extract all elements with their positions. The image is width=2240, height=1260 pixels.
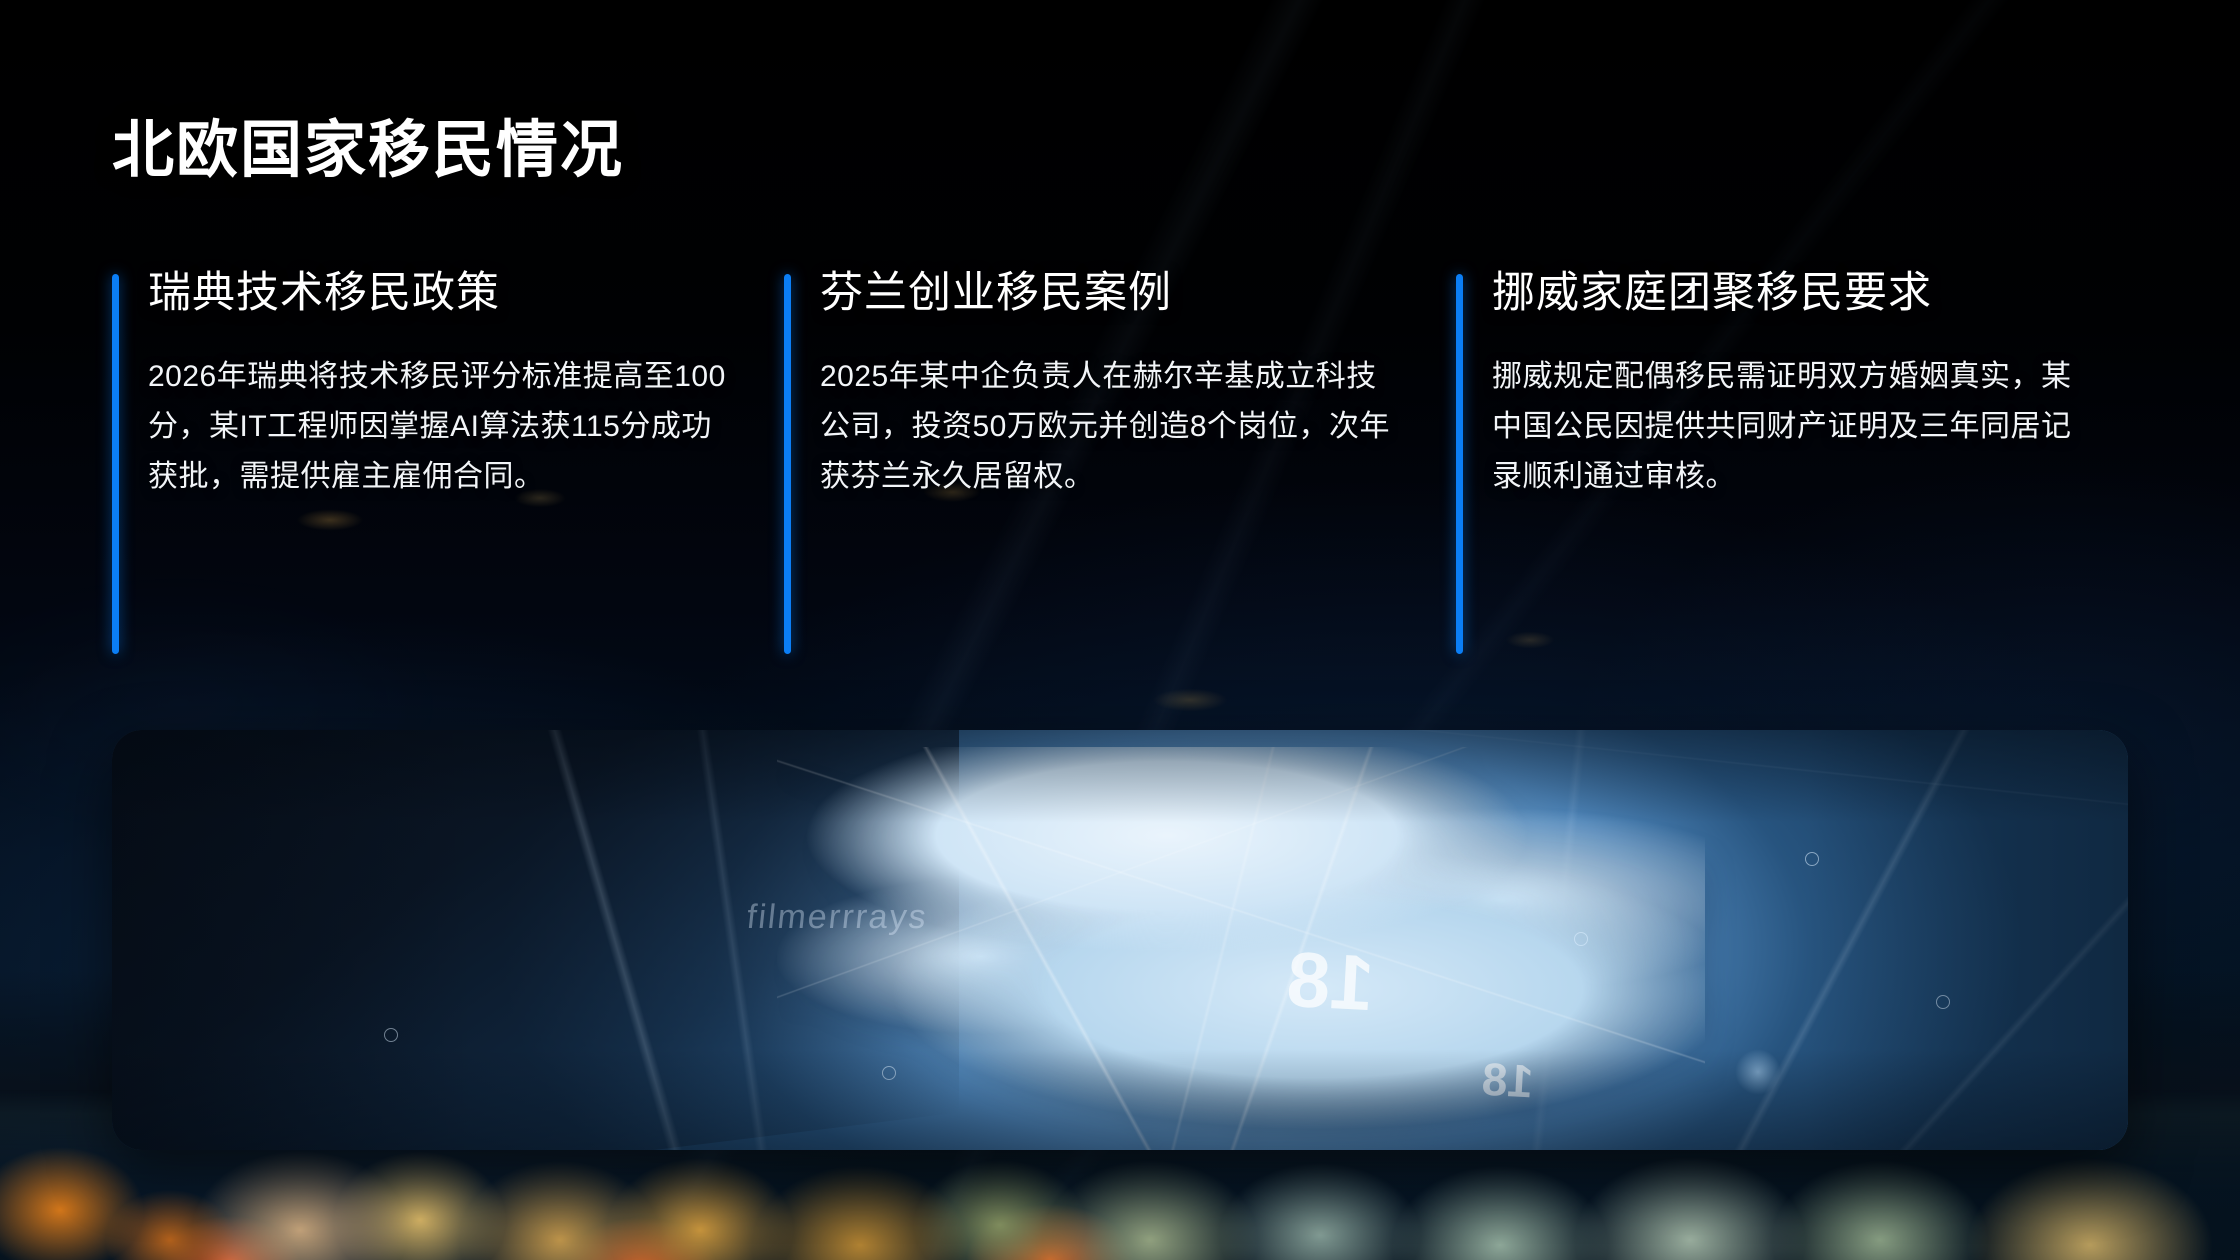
column-body-norway: 挪威规定配偶移民需证明双方婚姻真实，某中国公民因提供共同财产证明及三年同居记录顺… xyxy=(1492,352,2074,503)
accent-bar-icon xyxy=(1456,274,1463,654)
accent-bar-icon xyxy=(112,274,119,654)
map-vignette xyxy=(112,730,2128,1150)
europe-map-image-card: 18 18 filmerrrays xyxy=(112,730,2128,1150)
slide-root: 北欧国家移民情况 瑞典技术移民政策 2026年瑞典将技术移民评分标准提高至100… xyxy=(0,0,2240,1260)
column-title-sweden: 瑞典技术移民政策 xyxy=(148,268,730,320)
page-title: 北欧国家移民情况 xyxy=(112,116,624,185)
column-finland: 芬兰创业移民案例 2025年某中企负责人在赫尔辛基成立科技公司，投资50万欧元并… xyxy=(784,268,1456,503)
column-body-sweden: 2026年瑞典将技术移民评分标准提高至100分，某IT工程师因掌握AI算法获11… xyxy=(148,352,730,503)
column-title-finland: 芬兰创业移民案例 xyxy=(820,268,1402,320)
column-body-finland: 2025年某中企负责人在赫尔辛基成立科技公司，投资50万欧元并创造8个岗位，次年… xyxy=(820,352,1402,503)
map-image: 18 18 filmerrrays xyxy=(112,730,2128,1150)
content-columns: 瑞典技术移民政策 2026年瑞典将技术移民评分标准提高至100分，某IT工程师因… xyxy=(112,268,2128,503)
accent-bar-icon xyxy=(784,274,791,654)
column-sweden: 瑞典技术移民政策 2026年瑞典将技术移民评分标准提高至100分，某IT工程师因… xyxy=(112,268,784,503)
column-norway: 挪威家庭团聚移民要求 挪威规定配偶移民需证明双方婚姻真实，某中国公民因提供共同财… xyxy=(1456,268,2128,503)
column-title-norway: 挪威家庭团聚移民要求 xyxy=(1492,268,2074,320)
